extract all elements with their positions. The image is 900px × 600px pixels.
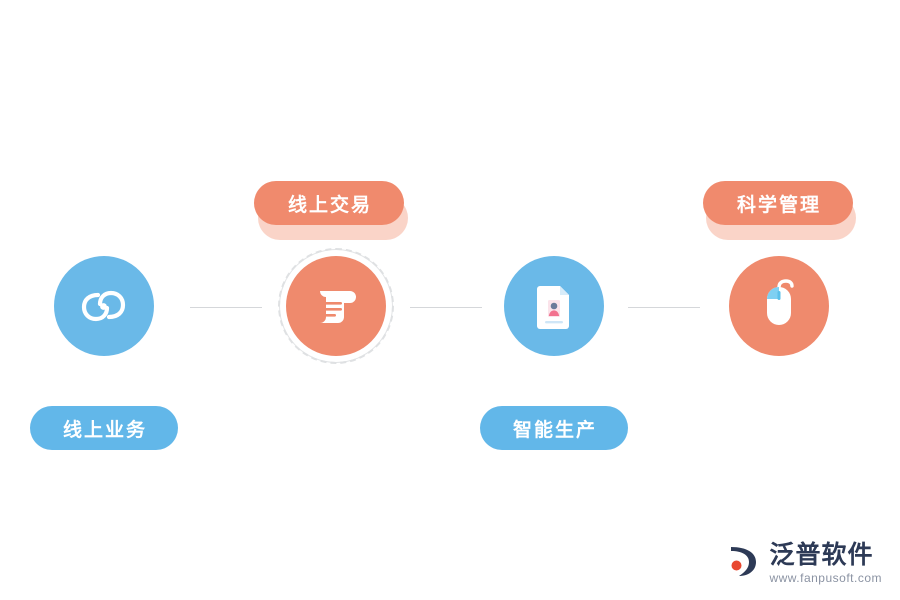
step-4-node[interactable]: [729, 256, 829, 356]
id-card-document-icon: [526, 278, 582, 334]
step-4-label[interactable]: 科学管理: [703, 181, 853, 225]
connector-1-2: [190, 307, 262, 308]
step-2-label-text: 线上交易: [286, 190, 372, 217]
scroll-document-icon: [308, 278, 364, 334]
step-3-label[interactable]: 智能生产: [480, 406, 628, 450]
step-4-label-text: 科学管理: [735, 190, 821, 217]
watermark: 泛普软件 www.fanpusoft.com: [723, 541, 882, 586]
fanpu-logo-icon: [723, 541, 763, 586]
chain-link-icon: [75, 277, 133, 335]
step-1-label-text: 线上业务: [61, 415, 147, 442]
step-3-label-text: 智能生产: [511, 415, 597, 442]
connector-3-4: [628, 307, 700, 308]
step-1-label[interactable]: 线上业务: [30, 406, 178, 450]
step-2-node[interactable]: [286, 256, 386, 356]
computer-mouse-icon: [752, 278, 806, 334]
watermark-url: www.fanpusoft.com: [769, 572, 882, 584]
step-3-node[interactable]: [504, 256, 604, 356]
watermark-text: 泛普软件 www.fanpusoft.com: [769, 543, 882, 584]
watermark-brand: 泛普软件: [769, 543, 873, 568]
connector-2-3: [410, 307, 482, 308]
step-1-node[interactable]: [54, 256, 154, 356]
step-2-label[interactable]: 线上交易: [254, 181, 404, 225]
diagram-canvas: 线上业务 线上交易 智能生产 科学管理 泛普软件 www.fanpusoft.c…: [0, 0, 900, 600]
